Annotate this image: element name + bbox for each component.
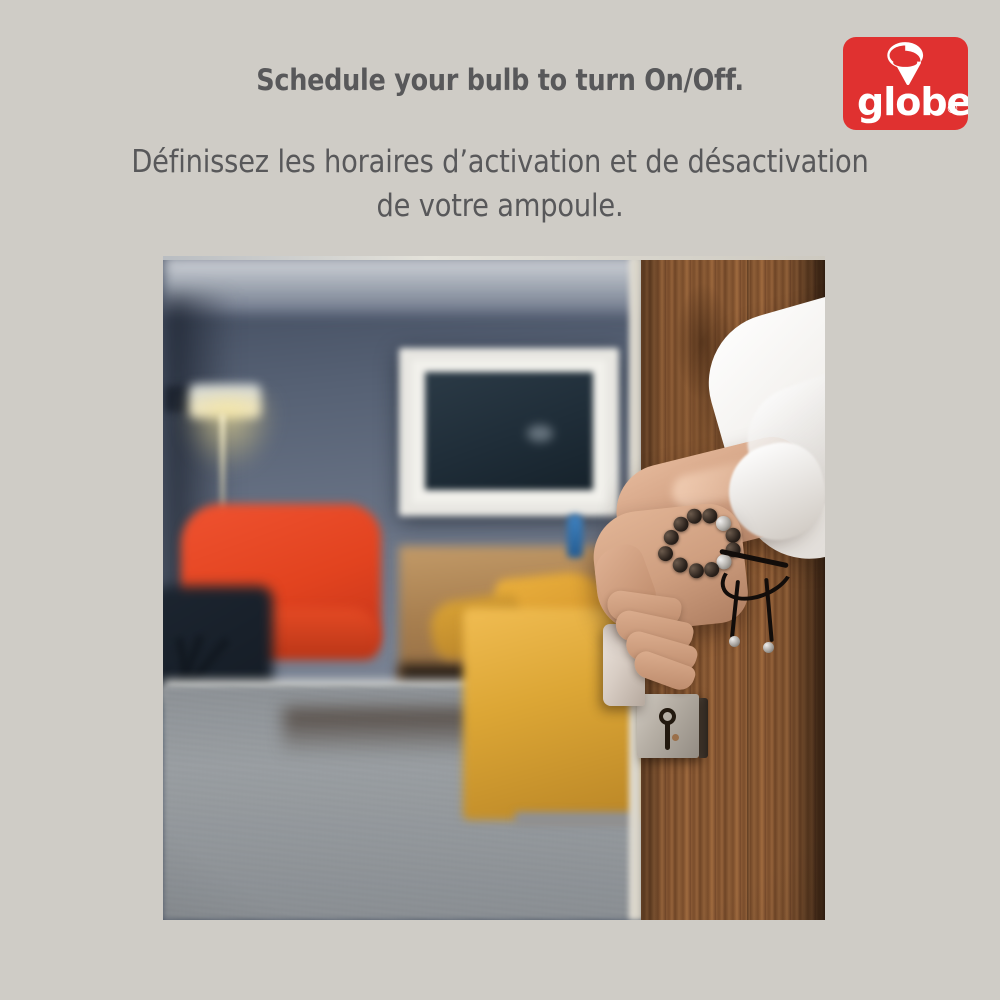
headline-french: Définissez les horaires d’activation et …	[60, 140, 940, 228]
headline-french-line-2: de votre ampoule.	[60, 184, 940, 228]
keyhole-icon	[659, 708, 676, 725]
copy-block: Schedule your bulb to turn On/Off. Défin…	[0, 62, 1000, 228]
keyhole-stem	[665, 724, 670, 750]
room-ceiling	[163, 256, 643, 314]
photo-scene	[163, 256, 825, 920]
photo-top-edge	[163, 256, 825, 260]
keyhole-pin	[672, 734, 679, 741]
bracelet-tail-bead-2	[763, 642, 774, 653]
headline-english: Schedule your bulb to turn On/Off.	[60, 62, 940, 98]
framed-wall-art	[399, 348, 619, 516]
bracelet-tail-bead-1	[729, 636, 740, 647]
product-photo	[163, 256, 825, 920]
artwork-canvas	[425, 372, 593, 490]
blue-vase	[567, 514, 583, 558]
mustard-armchair-foot	[515, 812, 637, 826]
artwork-glint	[527, 425, 553, 442]
escutcheon-side	[699, 698, 708, 758]
headline-french-line-1: Définissez les horaires d’activation et …	[60, 140, 940, 184]
